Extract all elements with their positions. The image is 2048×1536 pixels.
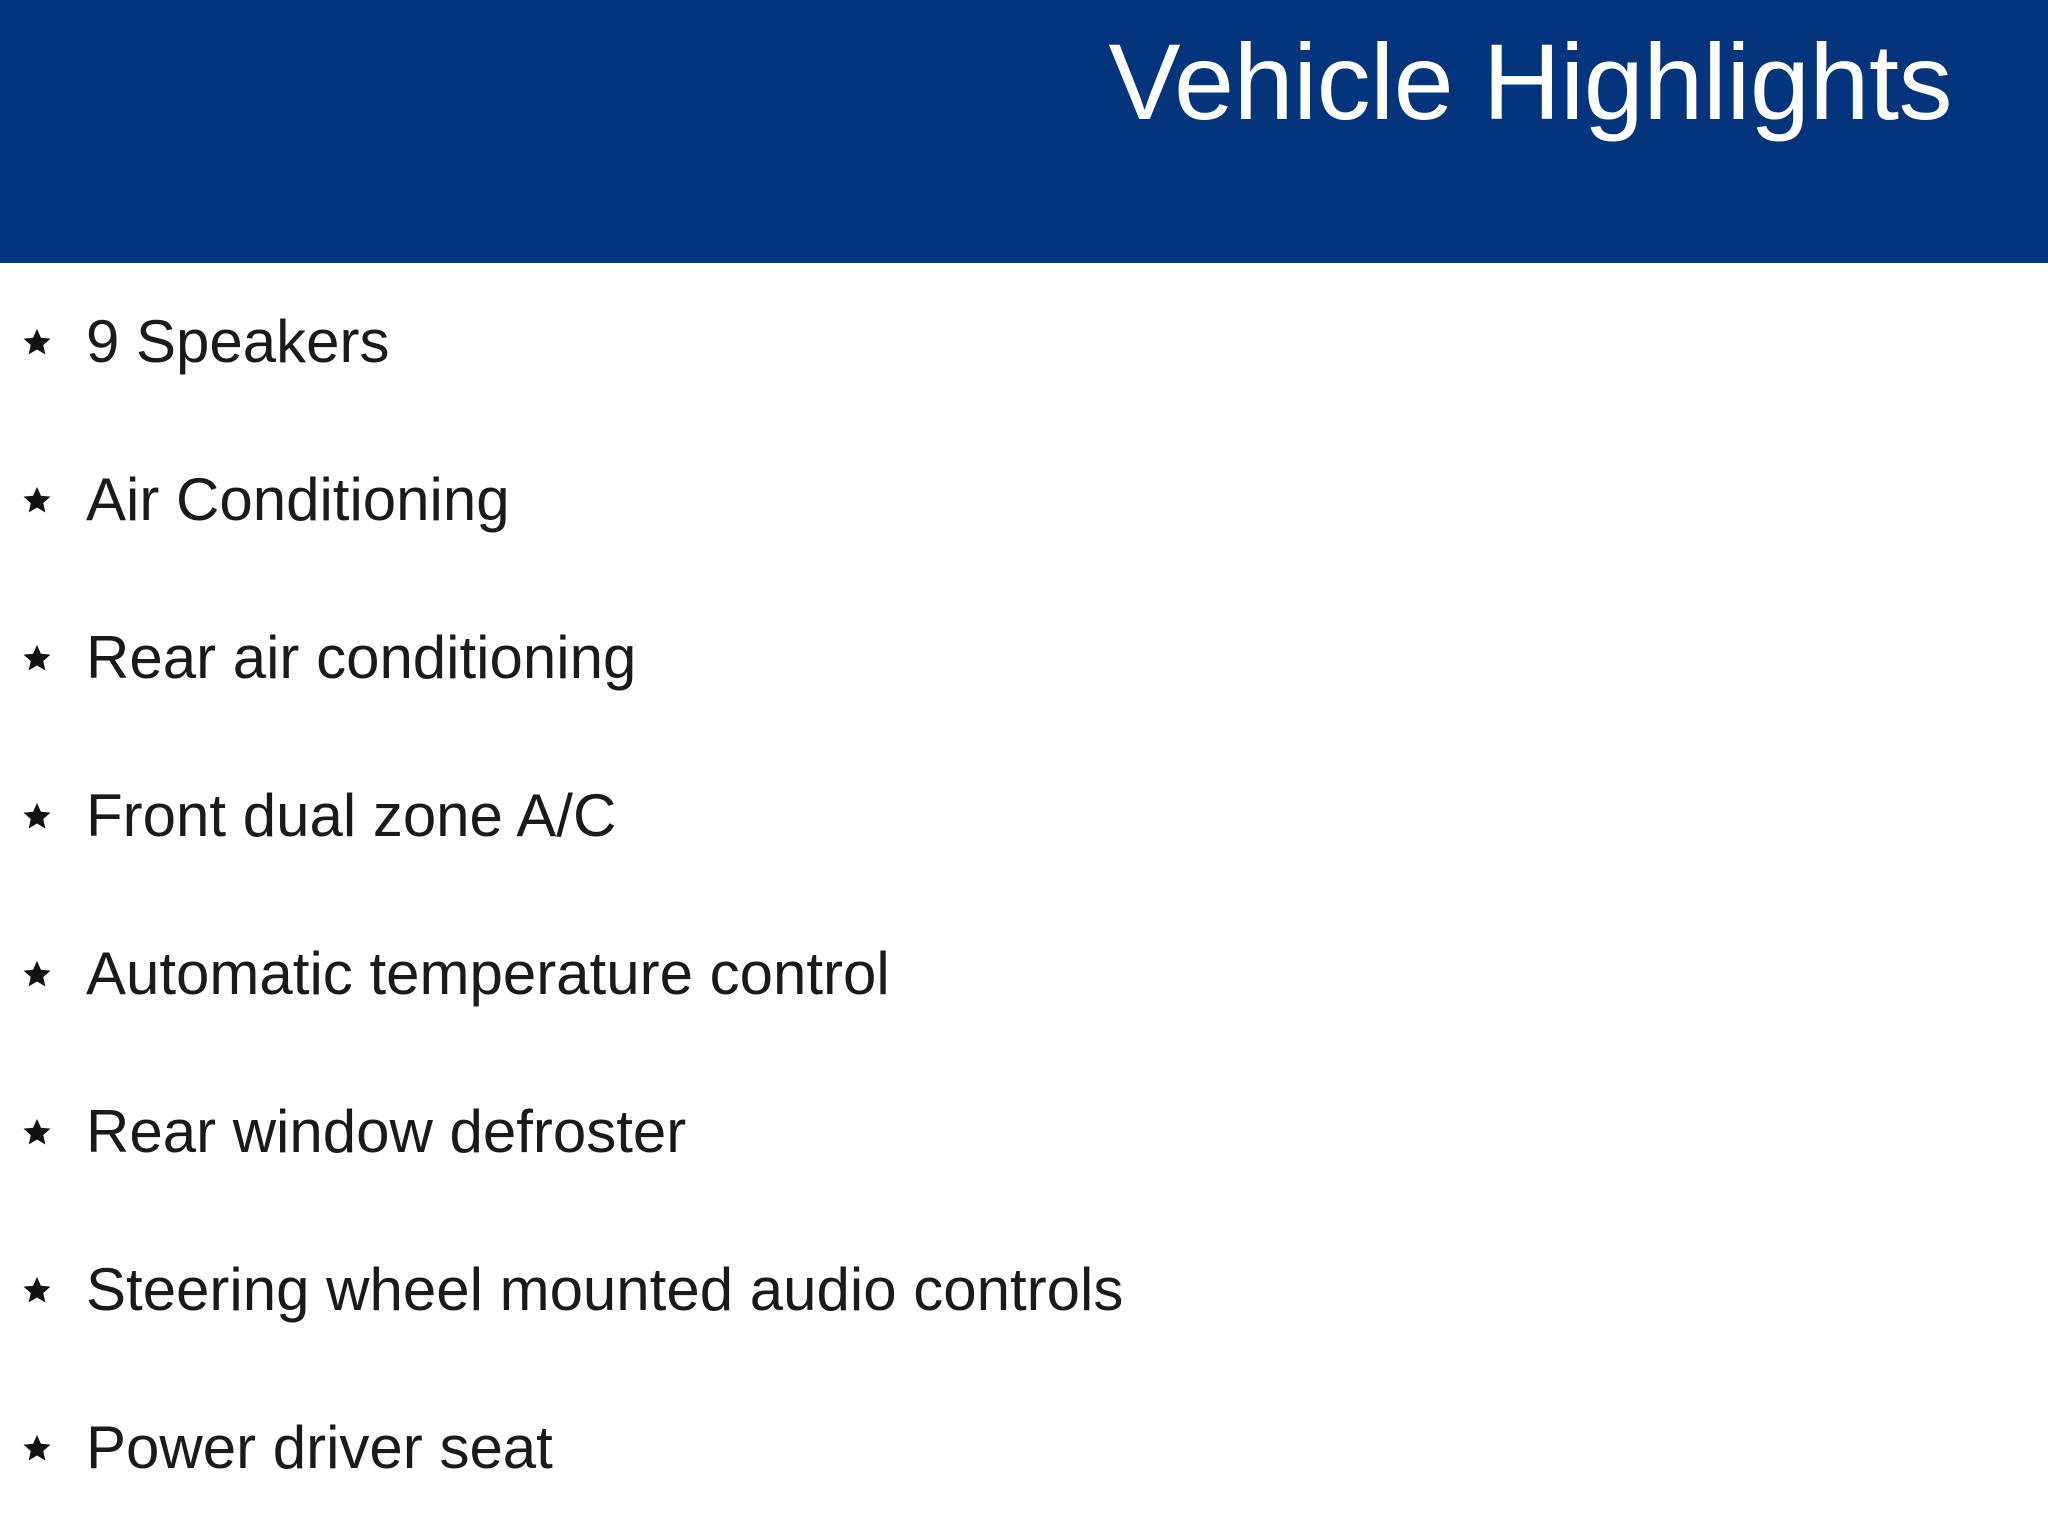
star-icon <box>22 628 52 688</box>
list-item: Steering wheel mounted audio controls <box>0 1211 2048 1369</box>
list-item: Rear window defroster <box>0 1053 2048 1211</box>
star-icon <box>22 1418 52 1478</box>
vehicle-highlights-slide: Vehicle Highlights 9 Speakers Air Condit… <box>0 0 2048 1536</box>
list-item: Power driver seat <box>0 1369 2048 1527</box>
list-item: Front dual zone A/C <box>0 737 2048 895</box>
list-item-label: 9 Speakers <box>86 312 390 372</box>
star-icon <box>22 786 52 846</box>
list-item-label: Automatic temperature control <box>86 944 890 1004</box>
list-item-label: Steering wheel mounted audio controls <box>86 1260 1123 1320</box>
list-item: Automatic temperature control <box>0 895 2048 1053</box>
vehicle-highlights-list: 9 Speakers Air Conditioning Rear air con… <box>0 263 2048 1527</box>
header-band: Vehicle Highlights <box>0 0 2048 263</box>
list-item: Rear air conditioning <box>0 579 2048 737</box>
list-item: 9 Speakers <box>0 263 2048 421</box>
list-item-label: Front dual zone A/C <box>86 786 616 846</box>
list-item-label: Power driver seat <box>86 1418 553 1478</box>
star-icon <box>22 312 52 372</box>
page-title: Vehicle Highlights <box>1108 18 1952 145</box>
list-item-label: Air Conditioning <box>86 470 510 530</box>
star-icon <box>22 1102 52 1162</box>
list-item-label: Rear air conditioning <box>86 628 636 688</box>
list-item-label: Rear window defroster <box>86 1102 686 1162</box>
star-icon <box>22 944 52 1004</box>
star-icon <box>22 1260 52 1320</box>
star-icon <box>22 470 52 530</box>
list-item: Air Conditioning <box>0 421 2048 579</box>
